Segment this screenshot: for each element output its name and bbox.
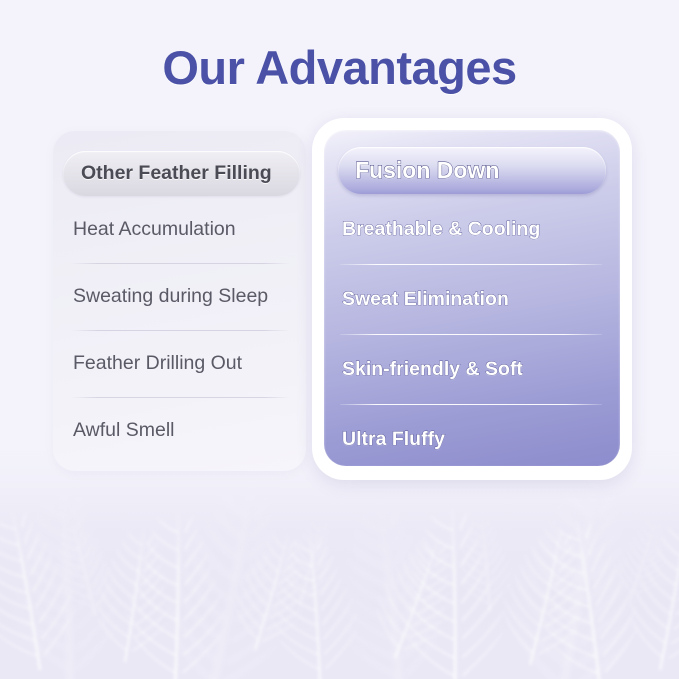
other-list-item: Sweating during Sleep (53, 263, 306, 330)
fusion-item-label: Ultra Fluffy (342, 428, 445, 451)
other-list-item: Feather Drilling Out (53, 330, 306, 397)
fusion-column-header-label: Fusion Down (355, 157, 499, 184)
other-list-item: Heat Accumulation (53, 196, 306, 263)
other-column-header: Other Feather Filling (63, 151, 300, 196)
other-list-item: Awful Smell (53, 397, 306, 464)
fusion-list-item: Breathable & Cooling (324, 194, 620, 264)
fusion-down-card: Fusion Down Breathable & Cooling Sweat E… (324, 130, 620, 466)
fusion-item-label: Breathable & Cooling (342, 218, 540, 241)
other-item-label: Heat Accumulation (73, 218, 236, 241)
comparison-cards: Other Feather Filling Heat Accumulation … (0, 0, 679, 679)
fusion-item-label: Sweat Elimination (342, 288, 509, 311)
fusion-column-header: Fusion Down (338, 147, 606, 194)
fusion-list-item: Skin-friendly & Soft (324, 334, 620, 404)
other-item-label: Feather Drilling Out (73, 352, 242, 375)
other-item-label: Awful Smell (73, 419, 175, 442)
other-column-header-label: Other Feather Filling (81, 162, 272, 185)
other-feather-filling-card: Other Feather Filling Heat Accumulation … (53, 131, 306, 471)
other-item-label: Sweating during Sleep (73, 285, 268, 308)
fusion-list-item: Sweat Elimination (324, 264, 620, 334)
fusion-list-item: Ultra Fluffy (324, 404, 620, 466)
fusion-item-label: Skin-friendly & Soft (342, 358, 523, 381)
fusion-down-card-frame: Fusion Down Breathable & Cooling Sweat E… (312, 118, 632, 480)
